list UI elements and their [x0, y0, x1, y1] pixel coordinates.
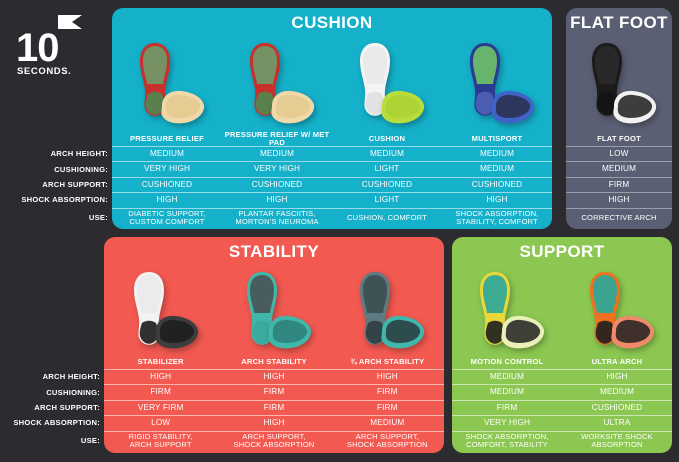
spec-value-use: SHOCK ABSORPTION,STABILITY, COMFORT	[442, 209, 552, 228]
spec-value: LOW	[566, 147, 672, 161]
insole-angled-view	[604, 311, 656, 351]
insole-angled-view	[494, 311, 546, 351]
insole-angled-view	[148, 311, 200, 351]
spec-value-use: SHOCK ABSORPTION,COMFORT, STABILITY	[452, 432, 562, 451]
spec-value: CUSHIONED	[112, 178, 222, 192]
column-header: STABILIZER	[104, 355, 217, 369]
product-image-arch-stability	[331, 267, 444, 355]
product-image-cushion	[332, 38, 442, 130]
row-label-top-4: USE:	[0, 208, 108, 228]
insole-angled-view	[606, 86, 658, 126]
spec-row-shock-absorption: HIGHHIGHLIGHTHIGH	[112, 192, 552, 207]
insole-angled-view	[374, 86, 426, 126]
brand-number: 10	[16, 28, 59, 68]
insole-angled-view	[154, 86, 206, 126]
column-header: PRESSURE RELIEF	[112, 132, 222, 146]
column-header: ULTRA ARCH	[562, 355, 672, 369]
row-label-top-1: CUSHIONING:	[0, 161, 108, 176]
product-image-ultra-arch	[562, 267, 672, 355]
spec-value: HIGH	[566, 193, 672, 207]
spec-row-cushioning: VERY HIGHVERY HIGHLIGHTMEDIUM	[112, 161, 552, 176]
insole-angled-view	[261, 311, 313, 351]
spec-value: MEDIUM	[112, 147, 222, 161]
spec-value: HIGH	[217, 370, 330, 384]
spec-value-use: WORKSITE SHOCKABSORPTION	[562, 432, 672, 451]
product-image-flat-foot	[566, 38, 672, 130]
insole-angled-view	[374, 311, 426, 351]
panel-title-flat-foot: FLAT FOOT	[566, 14, 672, 31]
spec-value: HIGH	[562, 370, 672, 384]
panel-cushion: CUSHION PRESSURE RELIEFPRESSURE RELIEF W…	[112, 8, 552, 229]
spec-row-use: SHOCK ABSORPTION,COMFORT, STABILITYWORKS…	[452, 431, 672, 451]
spec-row-arch-height: MEDIUMMEDIUMMEDIUMMEDIUM	[112, 146, 552, 161]
spec-value: VERY HIGH	[452, 416, 562, 430]
spec-table-flat-foot: FLAT FOOTLOWMEDIUMFIRMHIGHCORRECTIVE ARC…	[566, 132, 672, 228]
spec-value-use: ARCH SUPPORT,SHOCK ABSORPTION	[217, 432, 330, 451]
spec-value-use: CORRECTIVE ARCH	[566, 209, 672, 228]
panel-title-support: SUPPORT	[452, 243, 672, 260]
spec-value: HIGH	[331, 370, 444, 384]
spec-row-arch-support: VERY FIRMFIRMFIRM	[104, 400, 444, 415]
spec-value: FIRM	[217, 401, 330, 415]
spec-value: CUSHIONED	[562, 401, 672, 415]
spec-value: VERY FIRM	[104, 401, 217, 415]
spec-value: MEDIUM	[442, 147, 552, 161]
product-image-motion-control	[452, 267, 562, 355]
column-header: ¾ ARCH STABILITY	[331, 355, 444, 369]
panel-support: SUPPORT MOTION CONTROLULTRA ARCHMEDIUMHI…	[452, 237, 672, 453]
product-image-stabilizer	[104, 267, 217, 355]
insole-comparison-chart: 10 SECONDS. ARCH HEIGHT:CUSHIONING:ARCH …	[0, 0, 679, 462]
spec-value: FIRM	[452, 401, 562, 415]
spec-value: MEDIUM	[452, 370, 562, 384]
spec-value: HIGH	[104, 370, 217, 384]
product-image-row	[104, 267, 444, 355]
row-label-top-0: ARCH HEIGHT:	[0, 146, 108, 161]
spec-value: ULTRA	[562, 416, 672, 430]
column-header: MOTION CONTROL	[452, 355, 562, 369]
row-label-bottom-2: ARCH SUPPORT:	[0, 400, 100, 415]
row-label-bottom-0: ARCH HEIGHT:	[0, 369, 100, 384]
spec-value: MEDIUM	[222, 147, 332, 161]
row-labels-bottom: ARCH HEIGHT:CUSHIONING:ARCH SUPPORT:SHOC…	[0, 355, 100, 451]
spec-value: VERY HIGH	[222, 162, 332, 176]
spec-value: MEDIUM	[332, 147, 442, 161]
spec-table-header: PRESSURE RELIEFPRESSURE RELIEF W/ MET PA…	[112, 132, 552, 146]
product-image-row	[452, 267, 672, 355]
spec-row-arch-support: CUSHIONEDCUSHIONEDCUSHIONEDCUSHIONED	[112, 177, 552, 192]
spec-value: FIRM	[104, 385, 217, 399]
column-header: ARCH STABILITY	[217, 355, 330, 369]
panel-flat-foot: FLAT FOOT FLAT FOOTLOWMEDIUMFIRMHIGHCORR…	[566, 8, 672, 229]
product-image-pressure-relief-w-met-pad	[222, 38, 332, 130]
panel-title-cushion: CUSHION	[112, 14, 552, 31]
panel-stability: STABILITY STABILIZERARCH STABILITY¾ ARCH…	[104, 237, 444, 453]
spec-row-cushioning: MEDIUM	[566, 161, 672, 176]
spec-row-arch-support: FIRMCUSHIONED	[452, 400, 672, 415]
spec-row-arch-height: HIGHHIGHHIGH	[104, 369, 444, 384]
spec-value: MEDIUM	[442, 162, 552, 176]
spec-row-shock-absorption: VERY HIGHULTRA	[452, 415, 672, 430]
spec-value: HIGH	[222, 193, 332, 207]
spec-value: FIRM	[566, 178, 672, 192]
spec-value: CUSHIONED	[332, 178, 442, 192]
product-image-pressure-relief	[112, 38, 222, 130]
spec-value: FIRM	[331, 401, 444, 415]
insole-angled-view	[264, 86, 316, 126]
spec-row-cushioning: FIRMFIRMFIRM	[104, 384, 444, 399]
spec-row-arch-support: FIRM	[566, 177, 672, 192]
product-image-row	[566, 38, 672, 130]
spec-value: HIGH	[217, 416, 330, 430]
spec-value-use: PLANTAR FASCIITIS,MORTON'S NEUROMA	[222, 209, 332, 228]
spec-value: LIGHT	[332, 193, 442, 207]
spec-value: MEDIUM	[452, 385, 562, 399]
brand-word: SECONDS.	[17, 66, 71, 77]
column-header: MULTISPORT	[442, 132, 552, 146]
column-header: FLAT FOOT	[566, 132, 672, 146]
spec-value: MEDIUM	[331, 416, 444, 430]
brand-logo: 10 SECONDS.	[10, 14, 98, 80]
insole-angled-view	[484, 86, 536, 126]
spec-table-header: MOTION CONTROLULTRA ARCH	[452, 355, 672, 369]
product-image-multisport	[442, 38, 552, 130]
spec-value: FIRM	[217, 385, 330, 399]
spec-row-shock-absorption: LOWHIGHMEDIUM	[104, 415, 444, 430]
spec-row-use: CORRECTIVE ARCH	[566, 208, 672, 228]
spec-value-use: ARCH SUPPORT,SHOCK ABSORPTION	[331, 432, 444, 451]
spec-value: LOW	[104, 416, 217, 430]
spec-row-arch-height: MEDIUMHIGH	[452, 369, 672, 384]
spec-value: HIGH	[112, 193, 222, 207]
row-label-top-2: ARCH SUPPORT:	[0, 177, 108, 192]
spec-value: VERY HIGH	[112, 162, 222, 176]
spec-row-use: DIABETIC SUPPORT,CUSTOM COMFORTPLANTAR F…	[112, 208, 552, 228]
spec-table-header: STABILIZERARCH STABILITY¾ ARCH STABILITY	[104, 355, 444, 369]
product-image-row	[112, 38, 552, 130]
spec-value-use: CUSHION, COMFORT	[332, 209, 442, 228]
spec-value: CUSHIONED	[442, 178, 552, 192]
spec-row-cushioning: MEDIUMMEDIUM	[452, 384, 672, 399]
column-header: CUSHION	[332, 132, 442, 146]
row-label-bottom-1: CUSHIONING:	[0, 384, 100, 399]
spec-table-header: FLAT FOOT	[566, 132, 672, 146]
spec-value-use: DIABETIC SUPPORT,CUSTOM COMFORT	[112, 209, 222, 228]
column-header: PRESSURE RELIEF W/ MET PAD	[222, 132, 332, 146]
row-label-bottom-4: USE:	[0, 431, 100, 451]
spec-table-stability: STABILIZERARCH STABILITY¾ ARCH STABILITY…	[104, 355, 444, 451]
row-label-bottom-3: SHOCK ABSORPTION:	[0, 415, 100, 430]
spec-table-support: MOTION CONTROLULTRA ARCHMEDIUMHIGHMEDIUM…	[452, 355, 672, 451]
spec-value-use: RIGID STABILITY,ARCH SUPPORT	[104, 432, 217, 451]
spec-value: MEDIUM	[566, 162, 672, 176]
product-image-arch-stability	[217, 267, 330, 355]
spec-value: MEDIUM	[562, 385, 672, 399]
spec-row-use: RIGID STABILITY,ARCH SUPPORTARCH SUPPORT…	[104, 431, 444, 451]
spec-value: LIGHT	[332, 162, 442, 176]
flag-icon	[58, 14, 84, 35]
spec-row-arch-height: LOW	[566, 146, 672, 161]
spec-value: HIGH	[442, 193, 552, 207]
spec-value: CUSHIONED	[222, 178, 332, 192]
panel-title-stability: STABILITY	[104, 243, 444, 260]
spec-row-shock-absorption: HIGH	[566, 192, 672, 207]
spec-value: FIRM	[331, 385, 444, 399]
row-labels-top: ARCH HEIGHT:CUSHIONING:ARCH SUPPORT:SHOC…	[0, 132, 108, 228]
spec-table-cushion: PRESSURE RELIEFPRESSURE RELIEF W/ MET PA…	[112, 132, 552, 228]
row-label-top-3: SHOCK ABSORPTION:	[0, 192, 108, 207]
